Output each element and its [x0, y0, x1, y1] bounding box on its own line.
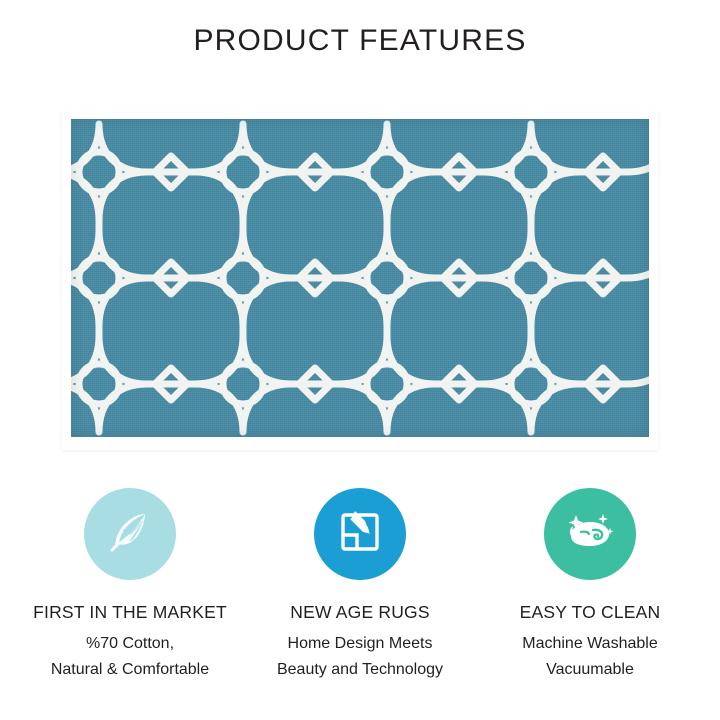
sparkle-wash-icon [563, 506, 617, 563]
feature-title-2: NEW AGE RUGS [248, 602, 472, 623]
feature-badge-3 [544, 488, 636, 580]
feather-icon [105, 507, 155, 562]
page-title: PRODUCT FEATURES [0, 24, 720, 58]
design-pen-ruler-icon [334, 506, 386, 563]
feature-easy-to-clean: EASY TO CLEAN Machine Washable Vacuumabl… [478, 488, 702, 683]
product-image-rug [62, 110, 658, 450]
feature-badge-2 [314, 488, 406, 580]
feature-new-age-rugs: NEW AGE RUGS Home Design Meets Beauty an… [248, 488, 472, 683]
product-features-infographic: PRODUCT FEATURES [0, 0, 720, 720]
feature-badge-1 [84, 488, 176, 580]
features-row: FIRST IN THE MARKET %70 Cotton, Natural … [0, 488, 720, 683]
rug-pattern [71, 119, 649, 437]
feature-desc-3: Machine Washable Vacuumable [478, 631, 702, 683]
rug-surface [71, 119, 649, 437]
feature-desc-1: %70 Cotton, Natural & Comfortable [18, 631, 242, 683]
feature-desc-2: Home Design Meets Beauty and Technology [248, 631, 472, 683]
feature-title-1: FIRST IN THE MARKET [18, 602, 242, 623]
feature-first-in-the-market: FIRST IN THE MARKET %70 Cotton, Natural … [18, 488, 242, 683]
feature-title-3: EASY TO CLEAN [478, 602, 702, 623]
